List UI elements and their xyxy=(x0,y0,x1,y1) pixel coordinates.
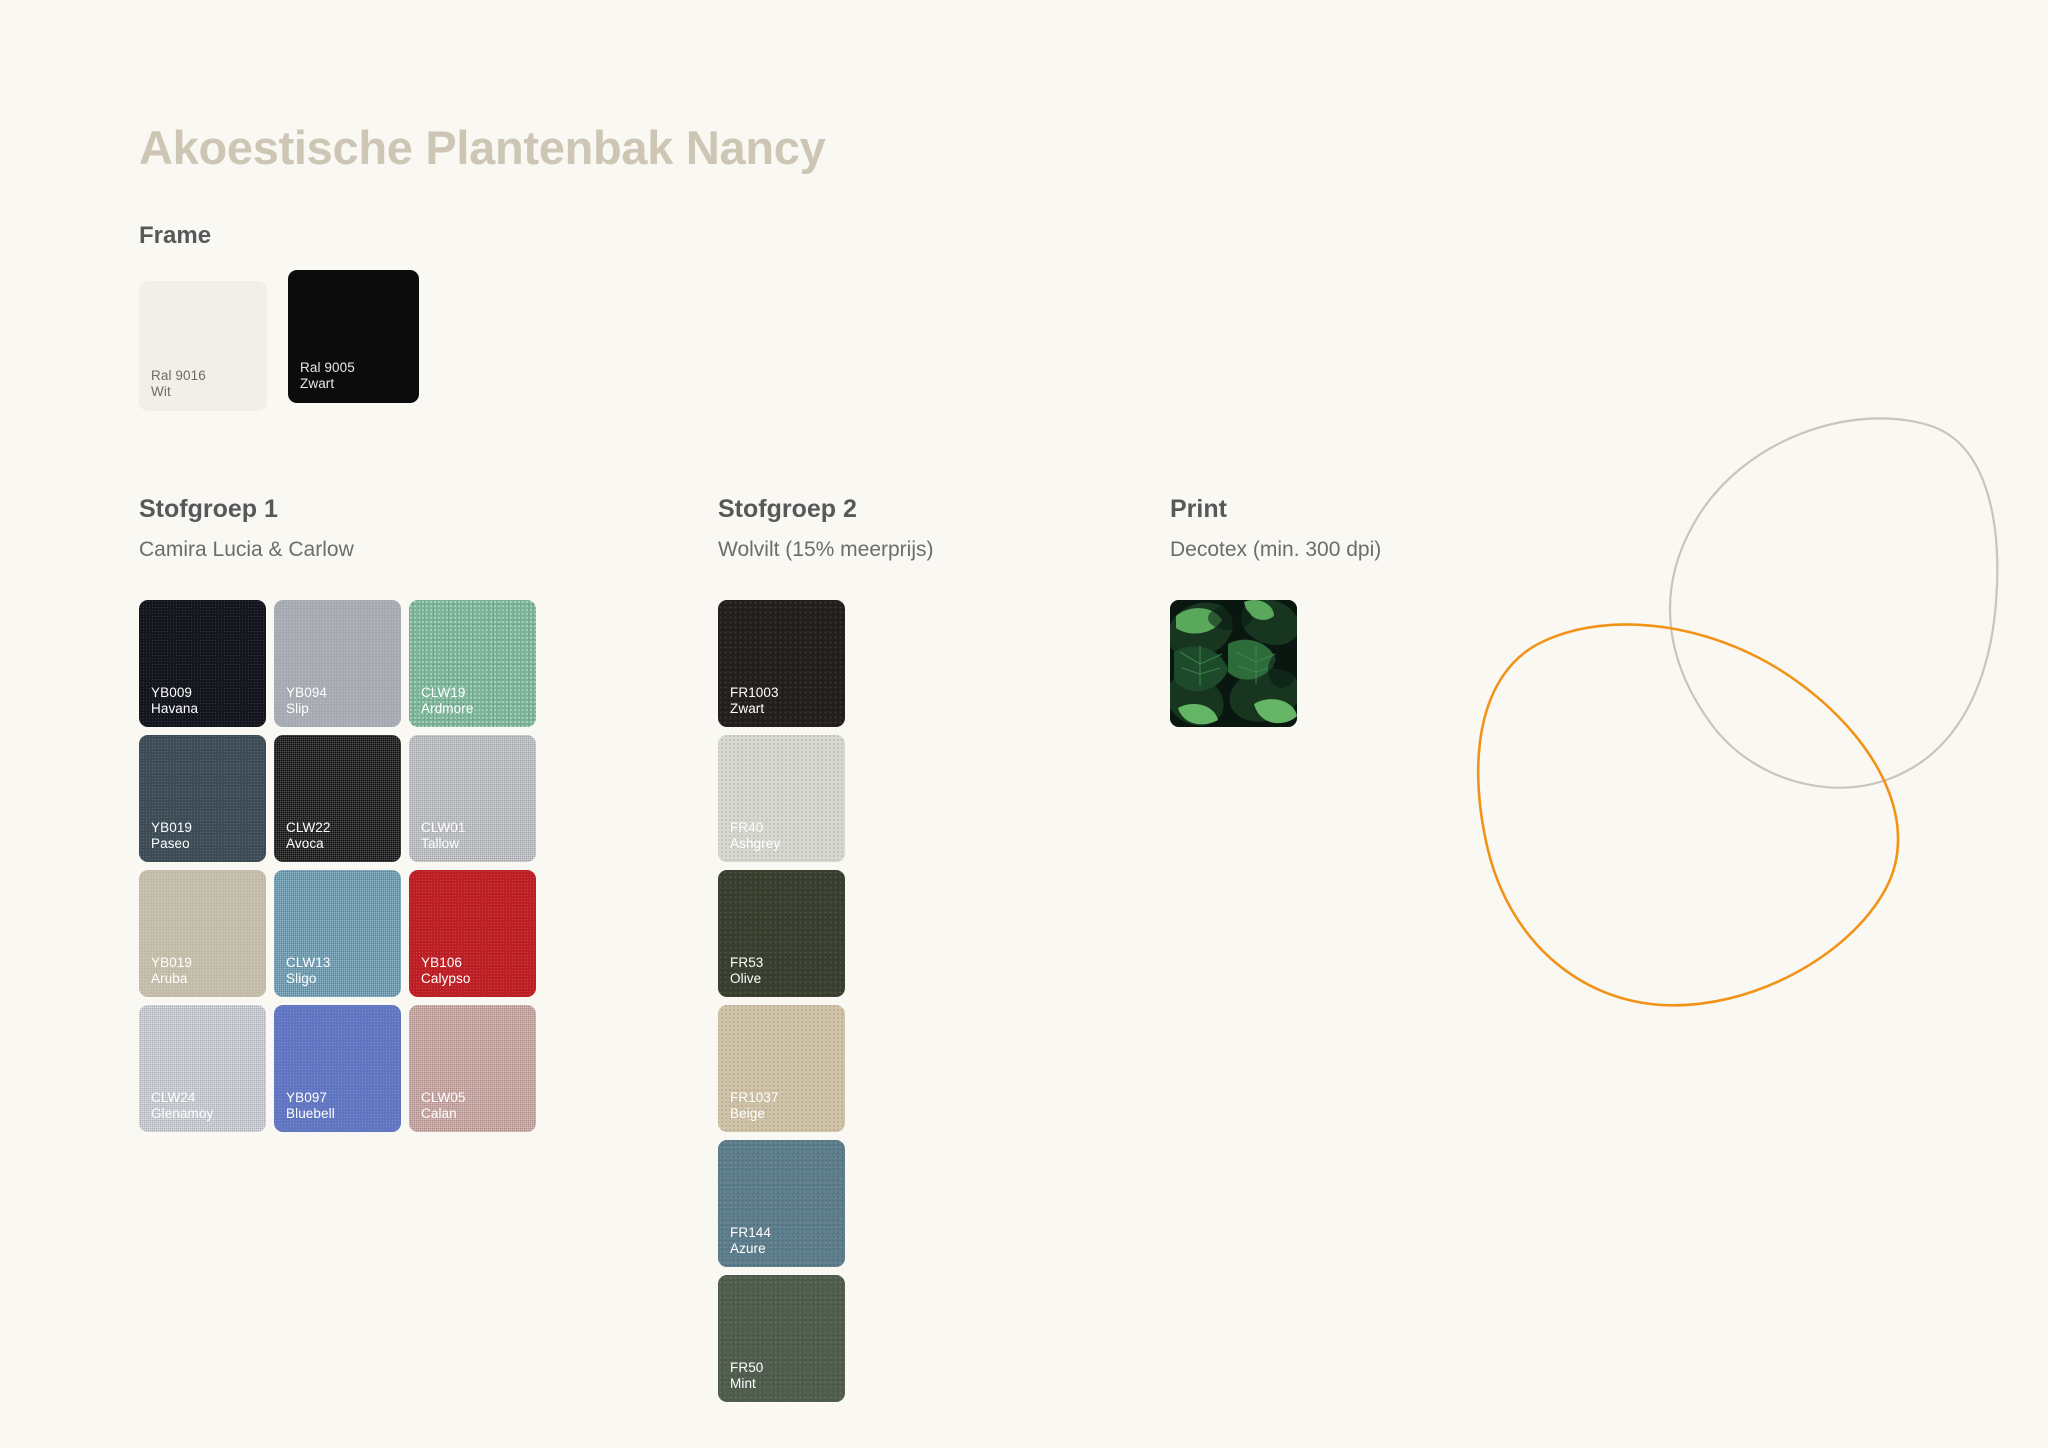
swatch-name: Paseo xyxy=(151,836,192,852)
swatch-code: CLW05 xyxy=(421,1090,466,1106)
swatch-name: Calypso xyxy=(421,971,470,987)
swatch-code: YB019 xyxy=(151,820,192,836)
swatch-code: CLW13 xyxy=(286,955,331,971)
stofgroep-1-swatch-sligo[interactable]: CLW13Sligo xyxy=(274,870,401,997)
swatch-label: YB106Calypso xyxy=(421,955,470,987)
frame-swatch-zwart-label: Ral 9005 Zwart xyxy=(300,360,355,392)
swatch-name: Beige xyxy=(730,1106,779,1122)
stofgroep-1-swatch-aruba[interactable]: YB019Aruba xyxy=(139,870,266,997)
swatch-name: Sligo xyxy=(286,971,331,987)
stofgroep-2-swatch-zwart[interactable]: FR1003Zwart xyxy=(718,600,845,727)
swatch-grid-stofgroep-1: YB009HavanaYB094SlipCLW19ArdmoreYB019Pas… xyxy=(139,600,569,1132)
frame-swatch-wit-label: Ral 9016 Wit xyxy=(151,368,206,400)
frame-section: Frame Ral 9016 Wit Ral 9005 Zwart xyxy=(139,222,419,411)
column-3-subtitle: Decotex (min. 300 dpi) xyxy=(1170,538,1381,562)
swatch-label: CLW01Tallow xyxy=(421,820,466,852)
frame-swatch-wit[interactable]: Ral 9016 Wit xyxy=(139,281,267,411)
column-3-title: Print xyxy=(1170,495,1381,524)
decorative-blobs xyxy=(1450,380,2048,1100)
page-title: Akoestische Plantenbak Nancy xyxy=(139,120,825,175)
column-print: Print Decotex (min. 300 dpi) xyxy=(1170,495,1381,727)
swatch-label: FR50Mint xyxy=(730,1360,763,1392)
swatch-label: YB097Bluebell xyxy=(286,1090,335,1122)
swatch-code: CLW24 xyxy=(151,1090,213,1106)
swatch-code: CLW22 xyxy=(286,820,331,836)
swatch-name: Mint xyxy=(730,1376,763,1392)
frame-swatch-zwart-code: Ral 9005 xyxy=(300,360,355,376)
column-2-subtitle: Wolvilt (15% meerprijs) xyxy=(718,538,934,562)
swatch-label: FR1037Beige xyxy=(730,1090,779,1122)
swatch-code: FR1037 xyxy=(730,1090,779,1106)
swatch-name: Havana xyxy=(151,701,198,717)
swatch-code: FR40 xyxy=(730,820,780,836)
swatch-label: YB094Slip xyxy=(286,685,327,717)
print-swatch-tropical-leaf[interactable] xyxy=(1170,600,1297,727)
swatch-grid-print xyxy=(1170,600,1380,727)
swatch-label: FR53Olive xyxy=(730,955,763,987)
swatch-code: FR1003 xyxy=(730,685,779,701)
swatch-grid-stofgroep-2: FR1003ZwartFR40AshgreyFR53OliveFR1037Bei… xyxy=(718,600,928,1402)
column-stofgroep-2: Stofgroep 2 Wolvilt (15% meerprijs) FR10… xyxy=(718,495,934,1402)
swatch-name: Glenamoy xyxy=(151,1106,213,1122)
stofgroep-1-swatch-tallow[interactable]: CLW01Tallow xyxy=(409,735,536,862)
swatch-label: FR1003Zwart xyxy=(730,685,779,717)
swatch-name: Azure xyxy=(730,1241,771,1257)
swatch-code: YB009 xyxy=(151,685,198,701)
stofgroep-1-swatch-bluebell[interactable]: YB097Bluebell xyxy=(274,1005,401,1132)
swatch-label: FR144Azure xyxy=(730,1225,771,1257)
swatch-code: YB094 xyxy=(286,685,327,701)
swatch-name: Avoca xyxy=(286,836,331,852)
swatch-name: Bluebell xyxy=(286,1106,335,1122)
frame-swatch-zwart[interactable]: Ral 9005 Zwart xyxy=(288,270,419,403)
swatch-code: YB106 xyxy=(421,955,470,971)
frame-swatch-wit-name: Wit xyxy=(151,384,206,400)
swatch-code: CLW19 xyxy=(421,685,473,701)
stofgroep-1-swatch-calan[interactable]: CLW05Calan xyxy=(409,1005,536,1132)
swatch-label: CLW19Ardmore xyxy=(421,685,473,717)
frame-swatch-wit-code: Ral 9016 xyxy=(151,368,206,384)
swatch-label: CLW24Glenamoy xyxy=(151,1090,213,1122)
swatch-code: YB019 xyxy=(151,955,192,971)
swatch-code: FR50 xyxy=(730,1360,763,1376)
stofgroep-1-swatch-avoca[interactable]: CLW22Avoca xyxy=(274,735,401,862)
column-stofgroep-1: Stofgroep 1 Camira Lucia & Carlow YB009H… xyxy=(139,495,569,1132)
swatch-name: Aruba xyxy=(151,971,192,987)
frame-swatch-zwart-name: Zwart xyxy=(300,376,355,392)
swatch-label: YB019Paseo xyxy=(151,820,192,852)
swatch-code: CLW01 xyxy=(421,820,466,836)
colour-options-page: Akoestische Plantenbak Nancy Frame Ral 9… xyxy=(0,0,2048,1448)
swatch-label: YB019Aruba xyxy=(151,955,192,987)
swatch-label: CLW22Avoca xyxy=(286,820,331,852)
swatch-label: CLW13Sligo xyxy=(286,955,331,987)
swatch-label: CLW05Calan xyxy=(421,1090,466,1122)
stofgroep-1-swatch-ardmore[interactable]: CLW19Ardmore xyxy=(409,600,536,727)
swatch-name: Ardmore xyxy=(421,701,473,717)
stofgroep-1-swatch-havana[interactable]: YB009Havana xyxy=(139,600,266,727)
stofgroep-2-swatch-olive[interactable]: FR53Olive xyxy=(718,870,845,997)
stofgroep-2-swatch-ashgrey[interactable]: FR40Ashgrey xyxy=(718,735,845,862)
swatch-name: Ashgrey xyxy=(730,836,780,852)
swatch-label: YB009Havana xyxy=(151,685,198,717)
swatch-code: FR53 xyxy=(730,955,763,971)
column-2-title: Stofgroep 2 xyxy=(718,495,934,524)
column-1-subtitle: Camira Lucia & Carlow xyxy=(139,538,569,562)
swatch-label: FR40Ashgrey xyxy=(730,820,780,852)
swatch-name: Olive xyxy=(730,971,763,987)
stofgroep-1-swatch-paseo[interactable]: YB019Paseo xyxy=(139,735,266,862)
stofgroep-2-swatch-mint[interactable]: FR50Mint xyxy=(718,1275,845,1402)
swatch-name: Tallow xyxy=(421,836,466,852)
swatch-code: FR144 xyxy=(730,1225,771,1241)
frame-swatch-list: Ral 9016 Wit Ral 9005 Zwart xyxy=(139,281,419,411)
stofgroep-1-swatch-calypso[interactable]: YB106Calypso xyxy=(409,870,536,997)
swatch-code: YB097 xyxy=(286,1090,335,1106)
frame-heading: Frame xyxy=(139,222,419,250)
swatch-name: Slip xyxy=(286,701,327,717)
stofgroep-2-swatch-beige[interactable]: FR1037Beige xyxy=(718,1005,845,1132)
blob-orange-outline xyxy=(1478,624,1898,1005)
stofgroep-1-swatch-slip[interactable]: YB094Slip xyxy=(274,600,401,727)
stofgroep-1-swatch-glenamoy[interactable]: CLW24Glenamoy xyxy=(139,1005,266,1132)
blob-grey-outline xyxy=(1670,418,1997,787)
swatch-name: Zwart xyxy=(730,701,779,717)
swatch-name: Calan xyxy=(421,1106,466,1122)
column-1-title: Stofgroep 1 xyxy=(139,495,569,524)
stofgroep-2-swatch-azure[interactable]: FR144Azure xyxy=(718,1140,845,1267)
